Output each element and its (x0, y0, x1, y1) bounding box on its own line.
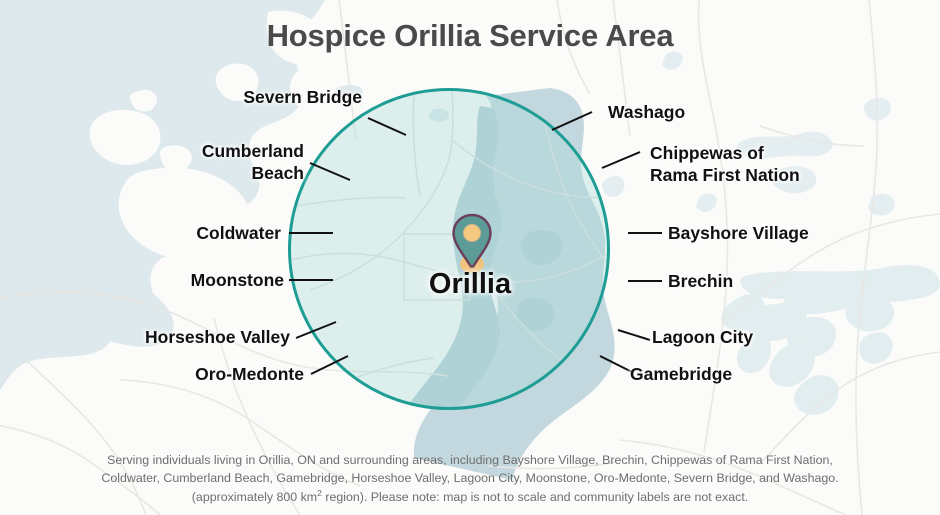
label-bayshore-village: Bayshore Village (668, 222, 918, 244)
label-horseshoe-valley: Horseshoe Valley (60, 326, 290, 348)
footer-line-2: Coldwater, Cumberland Beach, Gamebridge,… (34, 470, 906, 488)
orillia-pin (448, 212, 496, 274)
label-lagoon-city: Lagoon City (652, 326, 872, 348)
label-moonstone: Moonstone (80, 269, 284, 291)
label-severn-bridge: Severn Bridge (130, 86, 362, 108)
label-gamebridge: Gamebridge (630, 363, 860, 385)
service-area-map-graphic: Hospice Orillia Service Area Orilli (0, 0, 940, 515)
pin-inner-dot (463, 224, 480, 241)
footer-line-1: Serving individuals living in Orillia, O… (34, 452, 906, 470)
page-title: Hospice Orillia Service Area (0, 18, 940, 54)
footer-line-3-pre: (approximately 800 km (192, 490, 317, 504)
footer-line-3: (approximately 800 km2 region). Please n… (34, 487, 906, 507)
footer-line-3-post: region). Please note: map is not to scal… (322, 490, 748, 504)
label-chippewas: Chippewas of Rama First Nation (650, 142, 910, 187)
label-washago: Washago (608, 101, 848, 123)
label-oro-medonte: Oro-Medonte (96, 363, 304, 385)
map-pin-icon (448, 212, 496, 274)
label-cumberland-beach: Cumberland Beach (110, 140, 304, 185)
label-brechin: Brechin (668, 270, 868, 292)
footer-note: Serving individuals living in Orillia, O… (0, 452, 940, 507)
label-coldwater: Coldwater (100, 222, 281, 244)
